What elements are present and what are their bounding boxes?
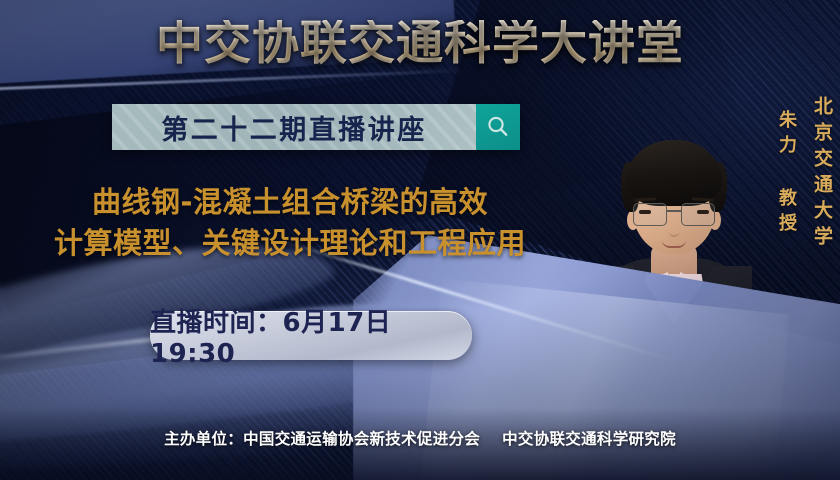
search-icon[interactable]	[476, 104, 520, 150]
lecture-title-line2: 计算模型、关键设计理论和工程应用	[0, 223, 580, 264]
poster-canvas: 中交协联交通科学大讲堂 第二十二期直播讲座 曲线钢-混凝土组合桥梁的高效 计算模…	[0, 0, 840, 480]
episode-label: 第二十二期直播讲座	[112, 104, 476, 150]
organizer-name-1: 中国交通运输协会新技术促进分会	[243, 430, 480, 448]
organizer-footer: 主办单位：中国交通运输协会新技术促进分会中交协联交通科学研究院	[0, 427, 840, 449]
portrait-eye-left	[639, 210, 651, 214]
lecture-title: 曲线钢-混凝土组合桥梁的高效 计算模型、关键设计理论和工程应用	[0, 182, 580, 264]
broadcast-time-badge: 直播时间：6月17日19:30	[150, 311, 472, 360]
organizer-name-2: 中交协联交通科学研究院	[502, 430, 676, 448]
episode-banner: 第二十二期直播讲座	[112, 104, 520, 150]
glasses-lens-right	[681, 203, 715, 226]
speaker-info: 北京交通大学 朱力 教授	[740, 96, 836, 326]
speaker-affiliation: 北京交通大学	[809, 96, 836, 326]
portrait-hair	[626, 140, 722, 206]
organizer-prefix: 主办单位：	[164, 430, 243, 448]
lecture-title-line1: 曲线钢-混凝土组合桥梁的高效	[0, 182, 580, 223]
portrait-nose	[669, 222, 680, 237]
glasses-bridge	[666, 210, 682, 212]
speaker-name: 朱力 教授	[773, 96, 799, 326]
page-title: 中交协联交通科学大讲堂	[0, 20, 840, 67]
glasses-lens-left	[633, 203, 667, 226]
portrait-eye-right	[697, 210, 709, 214]
